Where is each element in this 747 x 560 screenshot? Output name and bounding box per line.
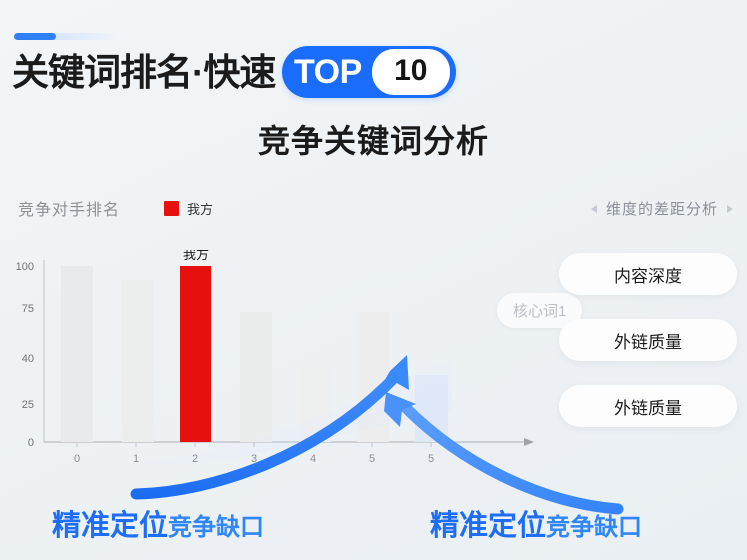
x-axis-ticks: 0 1 2 3 4 5 5 bbox=[74, 442, 434, 465]
bar bbox=[122, 280, 154, 442]
y-tick-label: 40 bbox=[22, 353, 34, 365]
caption-right: 精准定位 竞争缺口 bbox=[430, 502, 642, 544]
dimension-gap-heading: 维度的差距分析 bbox=[591, 198, 733, 219]
y-tick-label: 0 bbox=[28, 437, 34, 449]
y-tick-label: 75 bbox=[22, 303, 34, 315]
x-tick-label: 4 bbox=[310, 453, 316, 465]
x-tick-label: 1 bbox=[133, 453, 139, 465]
top-badge-label: TOP bbox=[294, 55, 372, 89]
legend-swatch-icon bbox=[164, 201, 179, 216]
x-axis-arrow-icon bbox=[524, 438, 534, 446]
arrow-glow bbox=[120, 362, 452, 465]
bar-chart: 100 75 40 25 0 我方 bbox=[0, 250, 560, 465]
chart-legend: 竞争对手排名 我方 bbox=[18, 196, 213, 220]
page-subtitle: 竞争关键词分析 bbox=[0, 116, 747, 162]
legend-item-mine: 我方 bbox=[164, 199, 213, 218]
top-badge-number: 10 bbox=[372, 49, 450, 95]
bar-chart-svg: 100 75 40 25 0 我方 bbox=[0, 250, 560, 465]
bar-annotation-label: 我方 bbox=[183, 250, 209, 262]
x-tick-label: 2 bbox=[192, 453, 198, 465]
dimension-gap-heading-text: 维度的差距分析 bbox=[606, 198, 718, 219]
x-tick-label: 5 bbox=[428, 453, 434, 465]
caption-right-soft: 竞争缺口 bbox=[546, 507, 642, 542]
bar bbox=[61, 266, 93, 442]
dimension-card[interactable]: 外链质量 bbox=[559, 319, 737, 361]
x-tick-label: 0 bbox=[74, 453, 80, 465]
legend-item-label: 我方 bbox=[187, 199, 213, 218]
y-tick-label: 100 bbox=[16, 261, 34, 273]
top-badge: TOP 10 bbox=[282, 46, 456, 98]
chevron-left-icon bbox=[591, 205, 597, 213]
bar-highlight bbox=[180, 266, 211, 442]
dimension-card[interactable]: 外链质量 bbox=[559, 385, 737, 427]
caption-left-strong: 精准定位 bbox=[52, 502, 168, 544]
legend-title: 竞争对手排名 bbox=[18, 196, 120, 220]
y-axis-ticks: 100 75 40 25 0 bbox=[16, 261, 34, 449]
page-title: 关键词排名·快速 bbox=[12, 44, 275, 100]
chevron-right-icon bbox=[727, 205, 733, 213]
caption-right-strong: 精准定位 bbox=[430, 502, 546, 544]
page-title-text: 关键词排名·快速 bbox=[12, 54, 275, 91]
dimension-card[interactable]: 内容深度 bbox=[559, 253, 737, 295]
dimension-card-list: 内容深度 外链质量 外链质量 bbox=[559, 253, 737, 451]
bar bbox=[240, 312, 272, 442]
y-tick-label: 25 bbox=[22, 399, 34, 411]
progress-bar bbox=[14, 33, 114, 40]
x-tick-label: 5 bbox=[369, 453, 375, 465]
slide-canvas: 关键词排名·快速 TOP 10 竞争关键词分析 竞争对手排名 我方 维度的差距分… bbox=[0, 0, 747, 560]
caption-left-soft: 竞争缺口 bbox=[168, 507, 264, 542]
caption-left: 精准定位 竞争缺口 bbox=[52, 502, 264, 544]
x-tick-label: 3 bbox=[251, 453, 257, 465]
progress-bar-fill bbox=[14, 33, 56, 40]
